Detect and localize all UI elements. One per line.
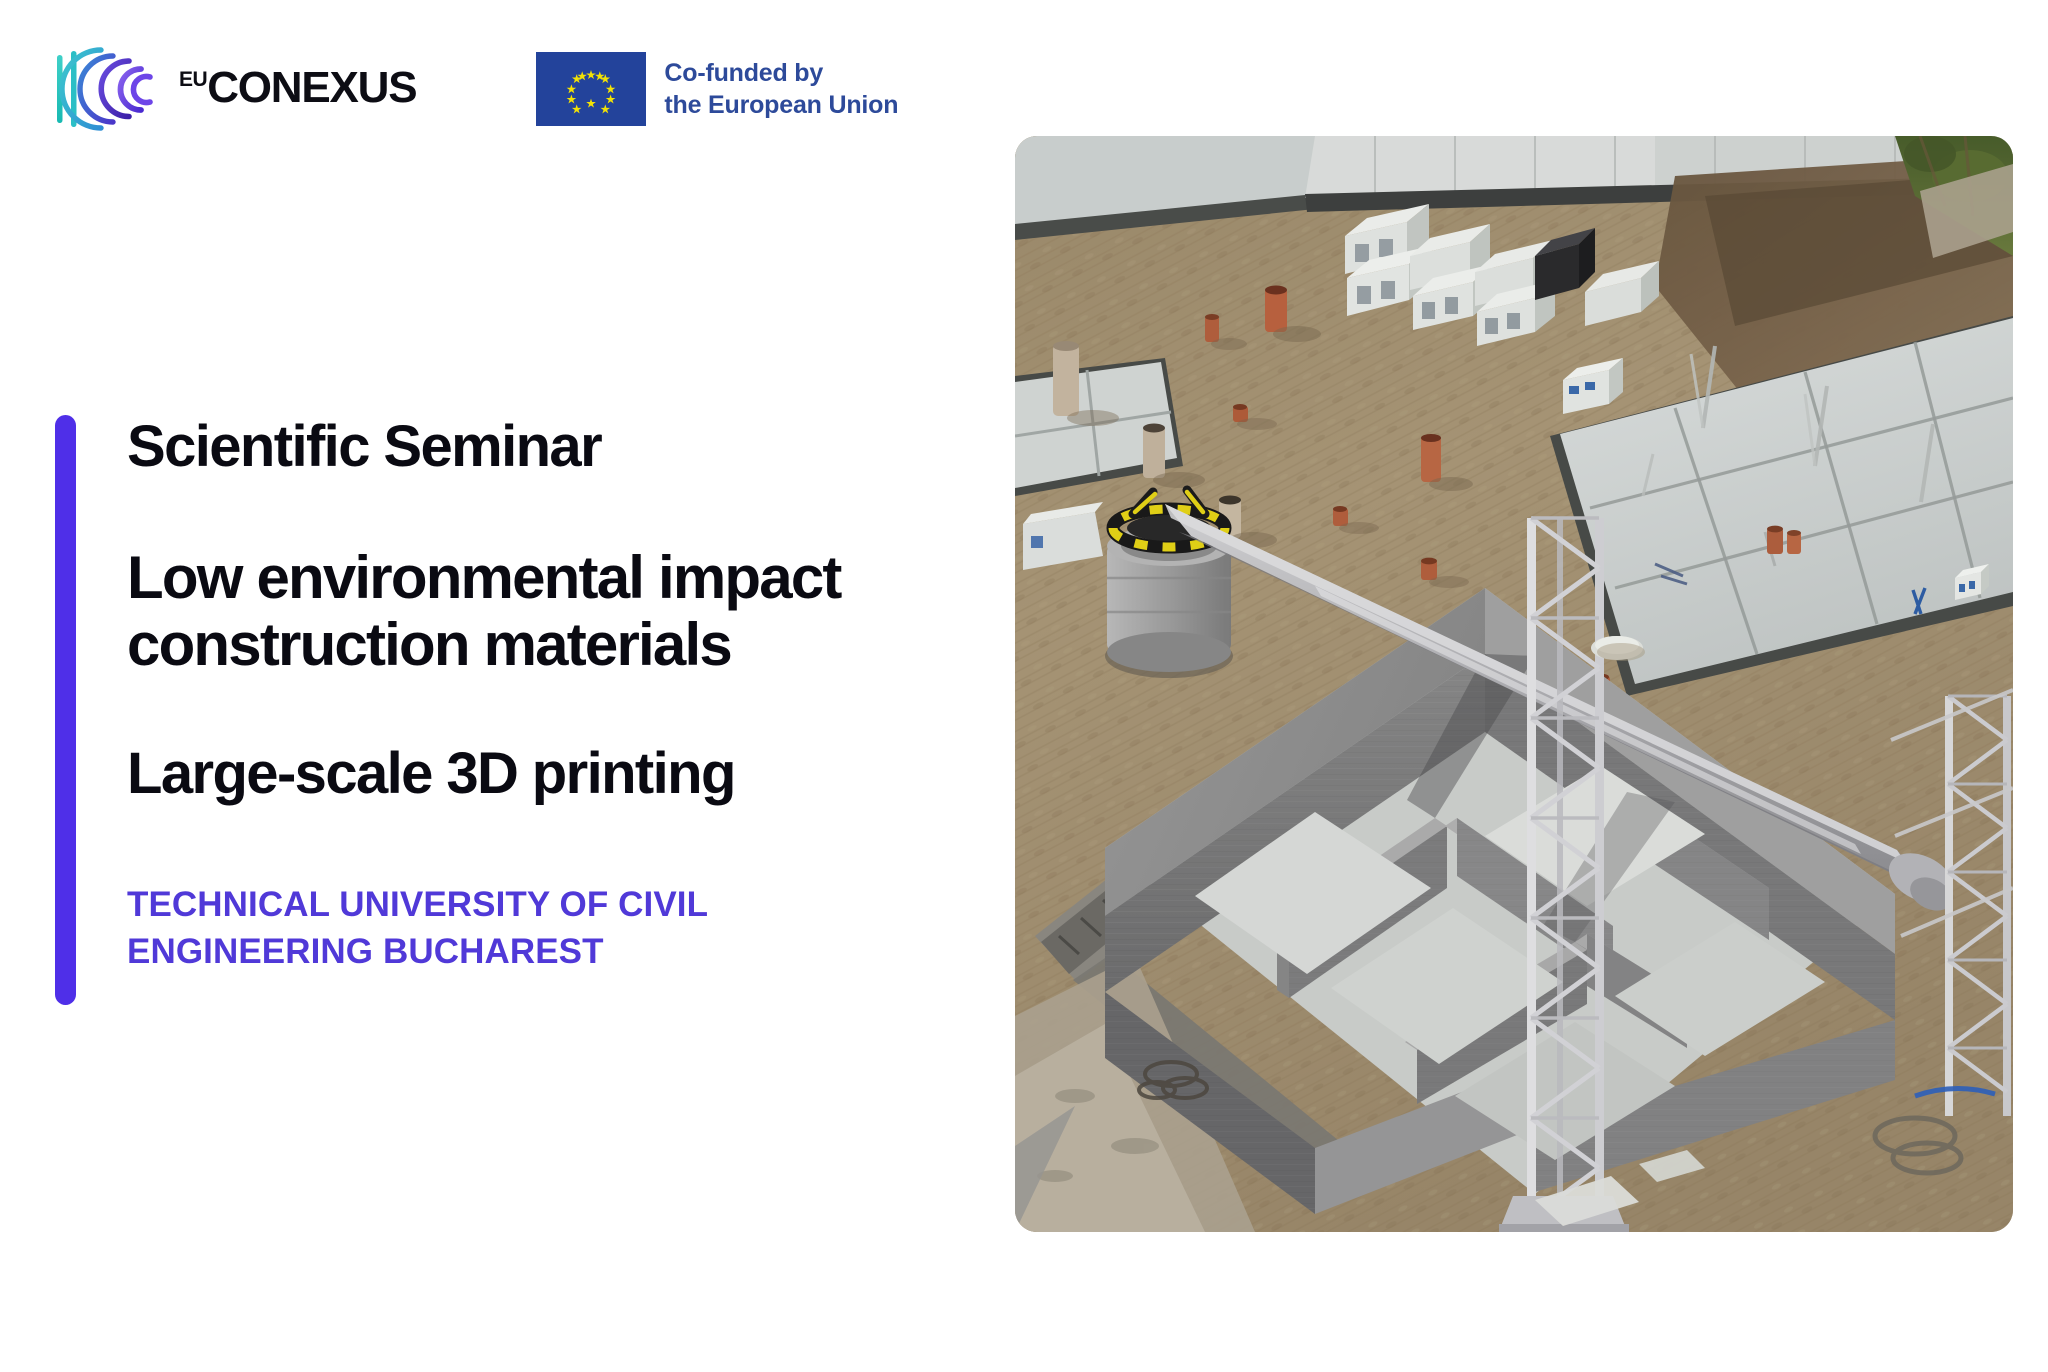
accent-bar xyxy=(55,415,76,1005)
seminar-content-block: Scientific Seminar Low environmental imp… xyxy=(55,415,985,975)
eu-funding-label: Co-funded by the European Union xyxy=(664,57,898,121)
seminar-type-title: Scientific Seminar xyxy=(127,415,985,480)
conexus-wordmark: EU CONEXUS xyxy=(179,67,416,111)
eu-conexus-logo: EU CONEXUS xyxy=(55,42,416,136)
seminar-topic-title: Low environmental impact construction ma… xyxy=(127,544,985,678)
header-logos: EU CONEXUS xyxy=(55,42,898,136)
conexus-arcs-logo-icon xyxy=(55,42,163,136)
organisation-name: TECHNICAL UNIVERSITY OF CIVIL ENGINEERIN… xyxy=(127,882,985,975)
seminar-subtopic-title: Large-scale 3D printing xyxy=(127,742,985,807)
conexus-eu-prefix: EU xyxy=(179,69,207,90)
slide-root: EU CONEXUS xyxy=(0,0,2048,1372)
conexus-name-text: CONEXUS xyxy=(207,66,416,110)
eu-flag-icon xyxy=(536,52,646,126)
eu-funding-badge: Co-funded by the European Union xyxy=(536,52,898,126)
content-text-column: Scientific Seminar Low environmental imp… xyxy=(55,415,985,975)
aerial-3d-printed-house-construction-site-photo xyxy=(1015,136,2013,1232)
